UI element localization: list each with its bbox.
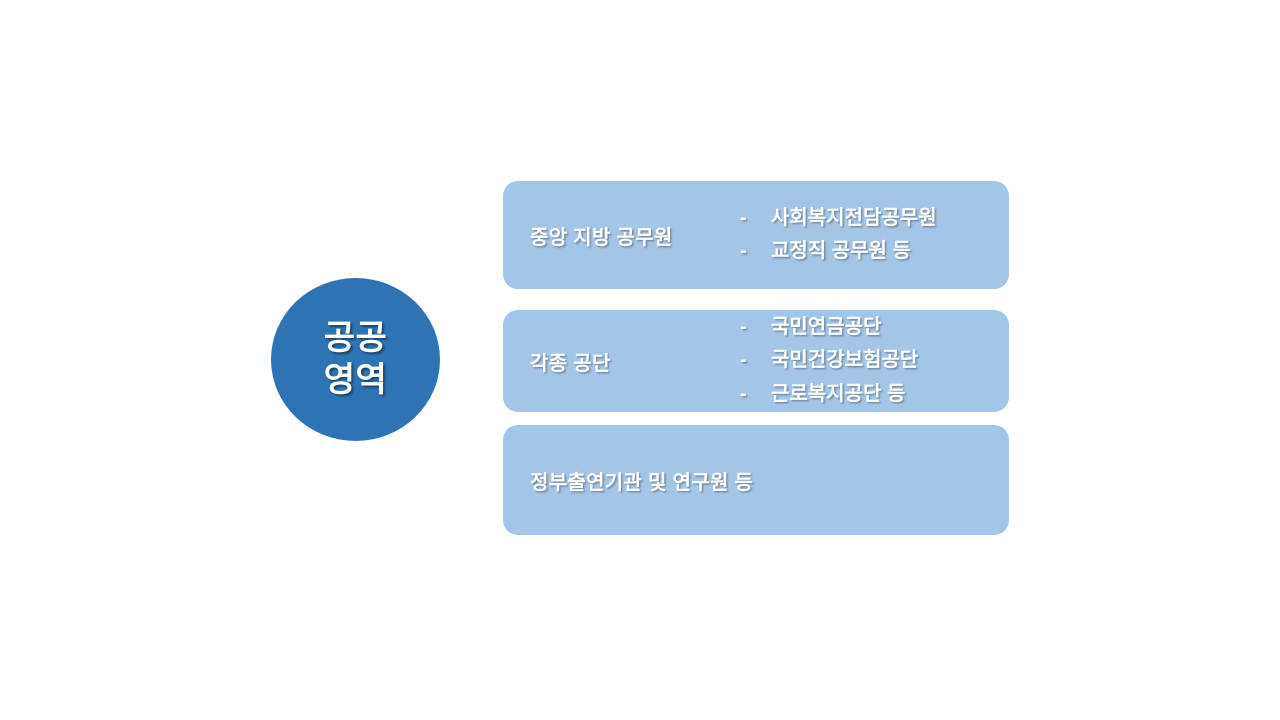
panel-3-label: 정부출연기관 및 연구원 등 — [530, 466, 753, 495]
panel-1-bullet-list: - 사회복지전담공무원 - 교정직 공무원 등 — [740, 202, 937, 268]
list-item: - 사회복지전담공무원 — [740, 202, 937, 235]
panel-2-bullet-list: - 국민연금공단 - 국민건강보험공단 - 근로복지공단 등 — [740, 311, 918, 411]
bullet-dash-icon: - — [740, 311, 771, 344]
panel-2-label: 각종 공단 — [530, 347, 611, 376]
bullet-text: 국민건강보험공단 — [771, 344, 918, 377]
circle-title-line-2: 영역 — [324, 360, 388, 401]
bullet-text: 국민연금공단 — [771, 311, 881, 344]
slide-canvas: 공공 영역 중앙 지방 공무원 - 사회복지전담공무원 - 교정직 공무원 등 … — [0, 0, 1280, 720]
circle-title-line-1: 공공 — [324, 318, 388, 359]
list-item: - 교정직 공무원 등 — [740, 235, 937, 268]
bullet-text: 교정직 공무원 등 — [771, 235, 911, 268]
bullet-text: 근로복지공단 등 — [771, 378, 905, 411]
bullet-dash-icon: - — [740, 378, 771, 411]
public-sector-circle[interactable]: 공공 영역 — [271, 278, 440, 441]
category-panel-2[interactable]: 각종 공단 - 국민연금공단 - 국민건강보험공단 - 근로복지공단 등 — [503, 310, 1009, 412]
bullet-dash-icon: - — [740, 202, 771, 235]
list-item: - 근로복지공단 등 — [740, 378, 918, 411]
list-item: - 국민연금공단 — [740, 311, 918, 344]
list-item: - 국민건강보험공단 — [740, 344, 918, 377]
category-panel-1[interactable]: 중앙 지방 공무원 - 사회복지전담공무원 - 교정직 공무원 등 — [503, 181, 1009, 289]
panel-1-label: 중앙 지방 공무원 — [530, 221, 673, 250]
category-panel-3[interactable]: 정부출연기관 및 연구원 등 — [503, 425, 1009, 535]
bullet-text: 사회복지전담공무원 — [771, 202, 937, 235]
bullet-dash-icon: - — [740, 344, 771, 377]
bullet-dash-icon: - — [740, 235, 771, 268]
